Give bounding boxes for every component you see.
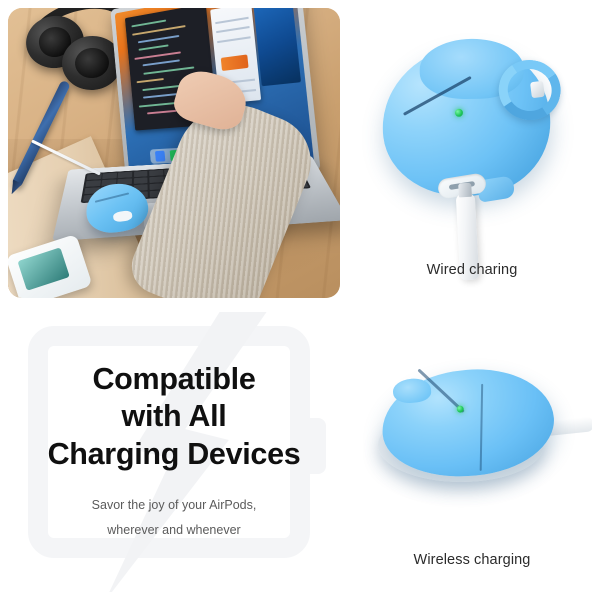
headline-line-1: Compatible	[48, 361, 301, 398]
subtitle-line-2: wherever and whenever	[92, 518, 257, 543]
subtitle-line-1: Savor the joy of your AirPods,	[92, 493, 257, 518]
subtitle: Savor the joy of your AirPods, wherever …	[92, 493, 257, 543]
wireless-product-shot	[352, 312, 592, 592]
window-highlight-chip	[221, 54, 248, 71]
led-indicator-icon	[456, 405, 464, 413]
usb-c-connector-icon	[458, 183, 472, 198]
phone-display	[18, 247, 70, 290]
headline-line-3: Charging Devices	[48, 436, 301, 473]
wallpaper-photo-window	[253, 8, 301, 86]
case-hinge-nub	[392, 377, 432, 404]
wired-product-shot	[352, 8, 592, 300]
case-lid-seam	[95, 192, 129, 202]
wired-charging-panel: Wired charing	[352, 8, 592, 300]
wireless-charging-caption: Wireless charging	[352, 552, 592, 568]
case-port	[113, 210, 133, 223]
marketing-text-panel: Compatible with All Charging Devices Sav…	[8, 312, 340, 592]
headline: Compatible with All Charging Devices	[48, 361, 301, 473]
headline-line-2: with All	[48, 398, 301, 435]
wireless-charging-panel: Wireless charging	[352, 312, 592, 592]
case-center-seam	[480, 384, 484, 471]
wired-charging-caption: Wired charing	[352, 262, 592, 278]
product-marketing-image: Wired charing Wireless charging Compatib…	[0, 0, 600, 600]
led-indicator-icon	[454, 108, 463, 117]
lifestyle-photo	[8, 8, 340, 298]
